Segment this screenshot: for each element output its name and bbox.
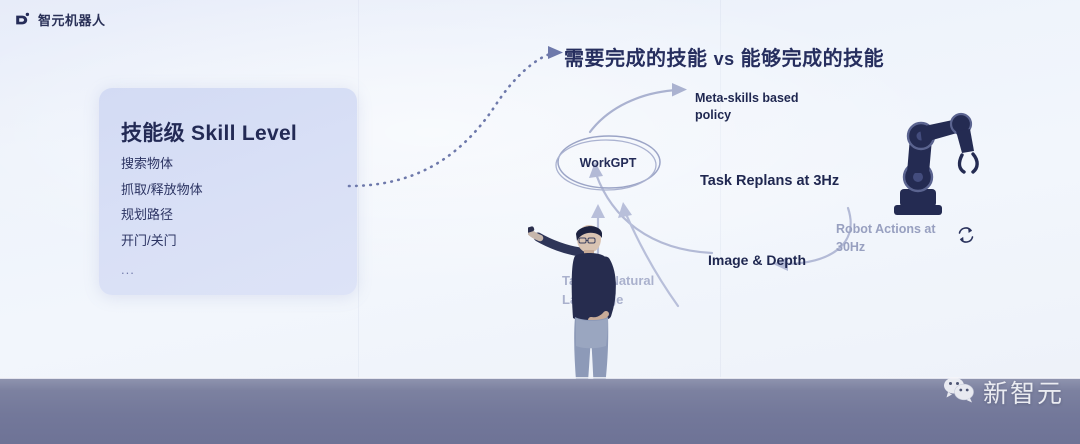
stage-floor: [0, 379, 1080, 444]
workgpt-label: WorkGPT: [552, 132, 664, 194]
loop-refresh-icon: [955, 224, 977, 246]
headline-vs: vs: [714, 49, 735, 69]
list-item: 抓取/释放物体: [121, 180, 203, 200]
list-item: 搜索物体: [121, 154, 203, 174]
robot-arm-icon: [876, 103, 984, 228]
image-depth-label: Image & Depth: [708, 251, 806, 270]
headline-right: 能够完成的技能: [741, 48, 885, 70]
headline-left: 需要完成的技能: [564, 48, 708, 70]
presenter-arm: [528, 226, 580, 252]
skill-level-card: 技能级 Skill Level 搜索物体 抓取/释放物体 规划路径 开门/关门 …: [99, 88, 357, 295]
brand-logo: 智元机器人: [14, 10, 106, 29]
brand-name: 智元机器人: [38, 10, 106, 29]
list-item: 开门/关门: [121, 231, 203, 251]
skill-card-title: 技能级 Skill Level: [121, 117, 297, 147]
list-item: 规划路径: [121, 205, 203, 225]
meta-policy-label: Meta-skills based policy: [695, 90, 825, 124]
list-item-more: ...: [121, 260, 203, 280]
screenshot-stage: 智元机器人 技能级 Skill Level 搜索物体 抓取/释放物体 规划路径 …: [0, 0, 1080, 444]
watermark: 新智元: [942, 374, 1064, 410]
skill-card-list: 搜索物体 抓取/释放物体 规划路径 开门/关门 ...: [121, 154, 203, 280]
wechat-icon: [942, 376, 976, 409]
zhiyuan-robotics-logo-icon: [14, 11, 31, 28]
task-replans-label: Task Replans at 3Hz: [700, 172, 839, 192]
page-title: 需要完成的技能 vs 能够完成的技能: [564, 42, 884, 71]
watermark-text: 新智元: [983, 374, 1064, 410]
